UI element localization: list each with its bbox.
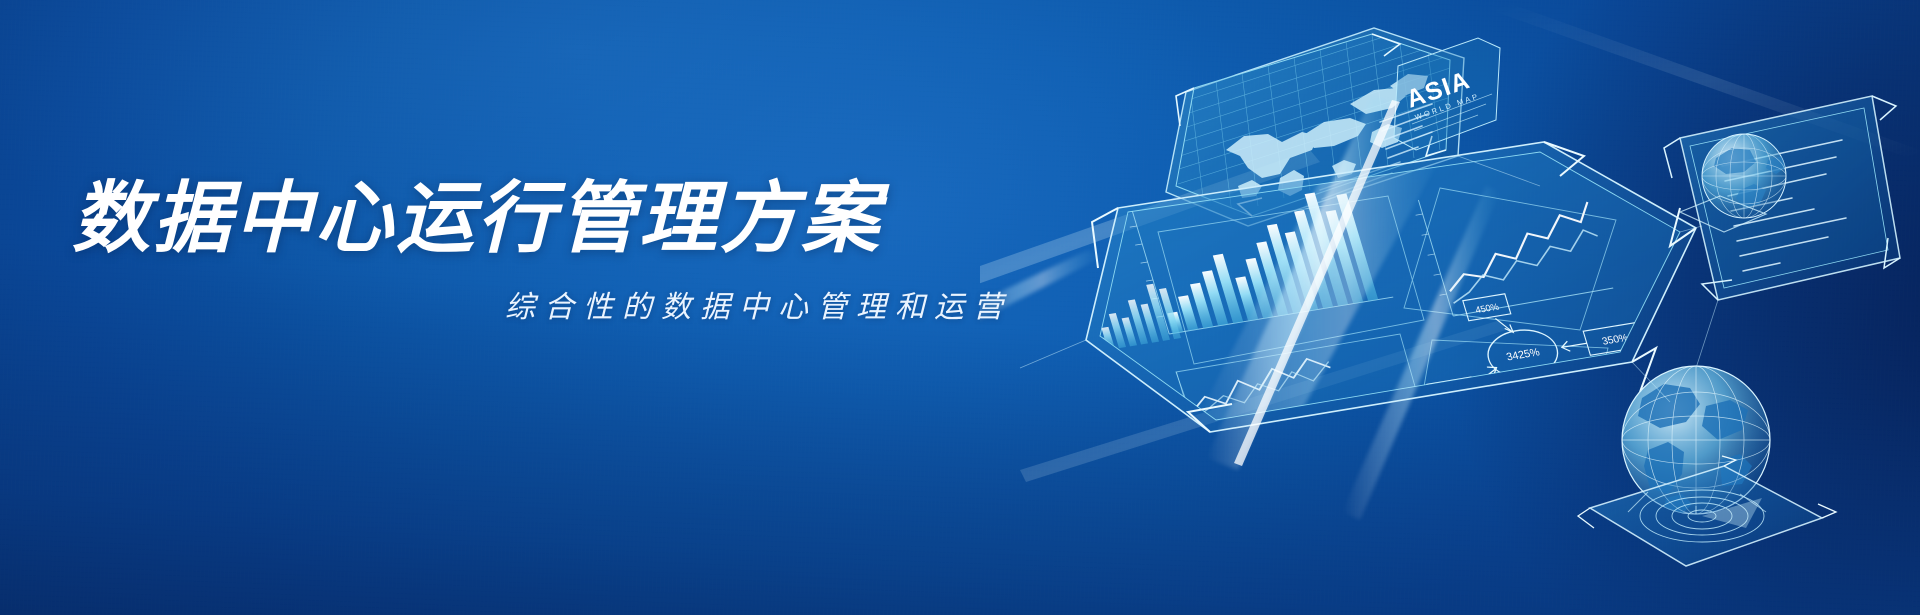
flow-bottom-label: 25% [1530,404,1553,418]
tech-illustration-svg: ASIA WORLD MAP [980,0,1920,615]
flow-bottom-node [1516,394,1567,423]
globe-large-group [1578,366,1836,566]
text-panel [1664,96,1900,300]
banner-subtitle: 综合性的数据中心管理和运营 [72,282,1062,326]
hero-banner: ASIA WORLD MAP [0,0,1920,615]
radar-base [1578,456,1836,566]
banner-title: 数据中心运行管理方案 [72,178,1062,260]
tech-illustration: ASIA WORLD MAP [980,0,1920,615]
banner-text-block: 数据中心运行管理方案 综合性的数据中心管理和运营 [72,178,1062,326]
